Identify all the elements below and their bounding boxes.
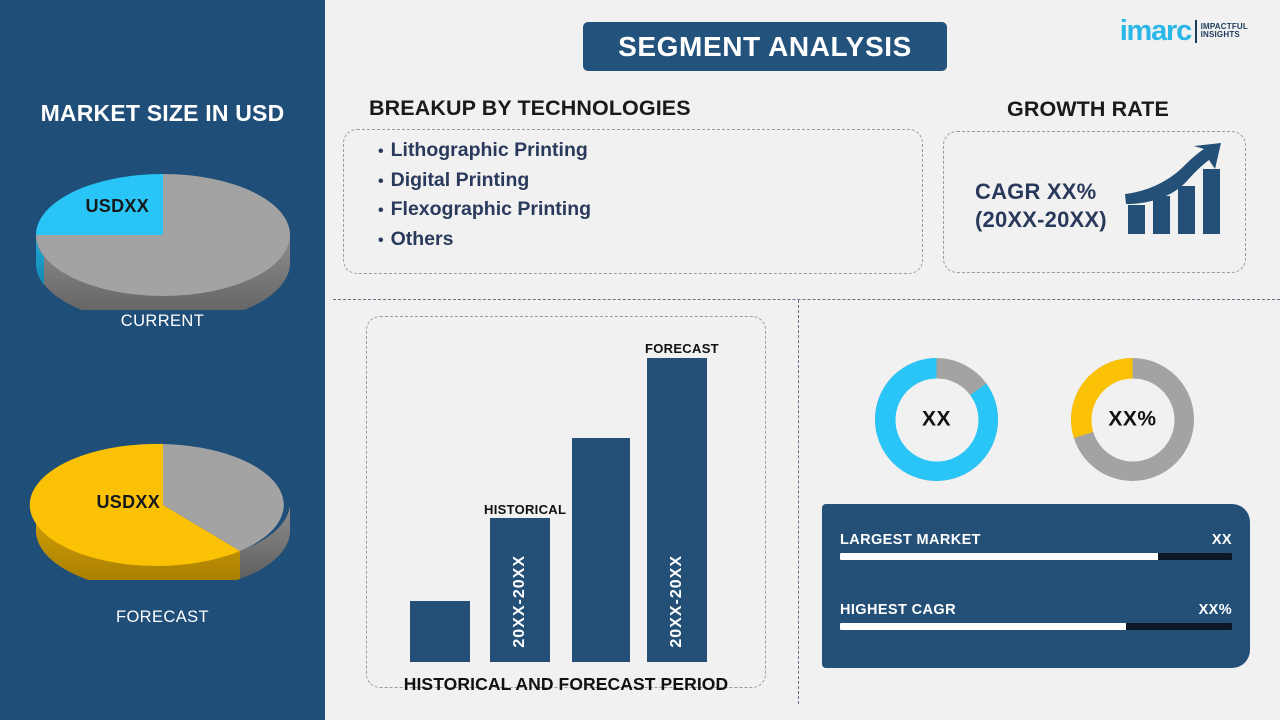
donut-chart-1: XX — [874, 357, 999, 482]
logo-tagline-line2: INSIGHTS — [1201, 31, 1248, 39]
stat-label: LARGEST MARKET — [840, 532, 981, 548]
stat-value: XX% — [1199, 602, 1232, 618]
sidebar-title: MARKET SIZE IN USD — [0, 100, 325, 127]
list-item-label: Digital Printing — [391, 171, 530, 191]
donut-2-center: XX% — [1091, 378, 1174, 461]
logo-tagline: IMPACTFUL INSIGHTS — [1201, 23, 1248, 40]
imarc-logo: imarc IMPACTFUL INSIGHTS — [1120, 14, 1248, 48]
market-size-forecast-block: USDXX FORECAST — [0, 430, 325, 627]
stats-panel: LARGEST MARKET XX HIGHEST CAGR XX% — [822, 504, 1250, 668]
logo-divider — [1195, 20, 1197, 43]
stat-value: XX — [1212, 532, 1232, 548]
page-title-banner: SEGMENT ANALYSIS — [583, 22, 947, 71]
list-item[interactable]: • Digital Printing — [378, 171, 591, 191]
bar-chart-axis-label: HISTORICAL AND FORECAST PERIOD — [366, 674, 766, 695]
bar-2-label: 20XX-20XX — [511, 555, 529, 648]
cagr-text: CAGR XX% (20XX-20XX) — [975, 178, 1107, 234]
logo-wordmark: imarc — [1120, 17, 1191, 46]
bar-3 — [572, 438, 630, 662]
list-item[interactable]: • Flexographic Printing — [378, 200, 591, 220]
bar-4: 20XX-20XX — [647, 358, 707, 662]
historical-annotation: HISTORICAL — [484, 502, 566, 517]
horizontal-divider — [333, 299, 1280, 300]
bullet-icon: • — [378, 144, 384, 160]
stat-progress-track — [840, 623, 1232, 630]
list-item-label: Others — [391, 230, 454, 250]
bullet-icon: • — [378, 174, 384, 190]
pie-forecast-svg — [28, 430, 298, 580]
bar-2: 20XX-20XX — [490, 518, 550, 662]
bullet-icon: • — [378, 233, 384, 249]
stat-row-largest-market: LARGEST MARKET XX — [840, 532, 1232, 560]
donut-1-center: XX — [895, 378, 978, 461]
cagr-period: (20XX-20XX) — [975, 206, 1107, 234]
pie-chart-current: USDXX — [28, 160, 298, 310]
stat-progress-fill — [840, 553, 1158, 560]
cagr-value: CAGR XX% — [975, 178, 1107, 206]
bar-chart: 20XX-20XX 20XX-20XX HISTORICAL FORECAST — [366, 316, 766, 688]
forecast-annotation: FORECAST — [645, 341, 719, 356]
pie-forecast-caption: FORECAST — [0, 608, 325, 627]
pie-current-svg — [28, 160, 298, 310]
pie-current-caption: CURRENT — [0, 312, 325, 331]
pie-chart-forecast: USDXX — [28, 430, 298, 580]
vertical-divider — [798, 300, 799, 704]
list-item-label: Flexographic Printing — [391, 200, 591, 220]
bar-1 — [410, 601, 470, 662]
stat-row-highest-cagr: HIGHEST CAGR XX% — [840, 602, 1232, 630]
list-item[interactable]: • Others — [378, 230, 591, 250]
donut-1-value: XX — [922, 408, 951, 432]
technologies-list: • Lithographic Printing • Digital Printi… — [378, 141, 591, 259]
list-item[interactable]: • Lithographic Printing — [378, 141, 591, 161]
donut-2-value: XX% — [1108, 408, 1156, 432]
main-content: SEGMENT ANALYSIS imarc IMPACTFUL INSIGHT… — [325, 0, 1280, 720]
growth-rate-heading: GROWTH RATE — [1007, 97, 1169, 122]
donut-chart-2: XX% — [1070, 357, 1195, 482]
stat-progress-track — [840, 553, 1232, 560]
stat-label: HIGHEST CAGR — [840, 602, 956, 618]
bar-4-label: 20XX-20XX — [668, 555, 686, 648]
list-item-label: Lithographic Printing — [391, 141, 588, 161]
growth-arrow-bars-icon — [1122, 142, 1222, 243]
sidebar: MARKET SIZE IN USD — [0, 0, 325, 720]
bullet-icon: • — [378, 203, 384, 219]
technologies-heading: BREAKUP BY TECHNOLOGIES — [369, 96, 691, 121]
page-title: SEGMENT ANALYSIS — [618, 31, 912, 63]
market-size-current-block: USDXX CURRENT — [0, 160, 325, 331]
stat-progress-fill — [840, 623, 1126, 630]
